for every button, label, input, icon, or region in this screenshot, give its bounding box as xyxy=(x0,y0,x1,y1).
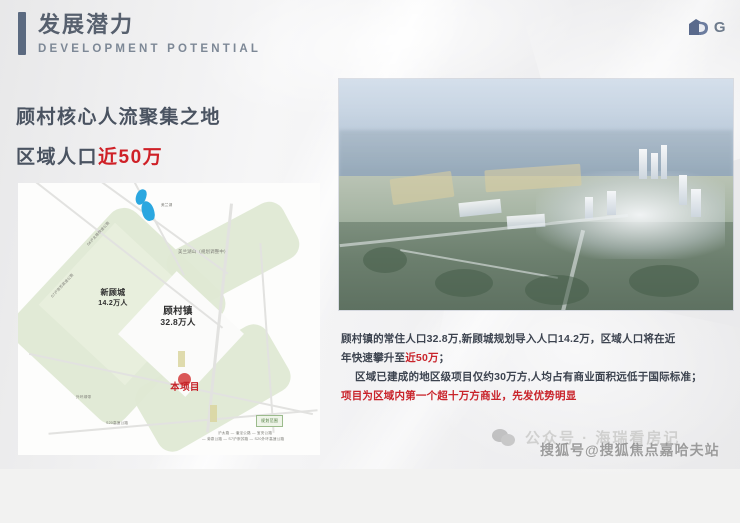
body-line-2-highlight: 近50万 xyxy=(405,352,438,364)
headline-secondary: 区域人口近50万 xyxy=(16,144,346,172)
map-block-marker-b xyxy=(210,405,217,422)
map-label-town: 顾村镇 32.8万人 xyxy=(140,307,216,328)
body-line-2: 年快速攀升至近50万； xyxy=(341,349,733,368)
slide-canvas: 发展潜力 DEVELOPMENT POTENTIAL G 顾村核心人流聚集之地 … xyxy=(0,0,740,469)
body-text-block: 顾村镇的常住人口32.8万,新顾城规划导入人口14.2万，区域人口将在近 年快速… xyxy=(341,330,733,406)
body-line-1: 顾村镇的常住人口32.8万,新顾城规划导入人口14.2万，区域人口将在近 xyxy=(341,330,733,349)
map-canvas: 美兰湖 美兰湖山（规划调整中） S6沪太路快速公路 S7沪崇苏高速公路 S20高… xyxy=(18,183,320,455)
map-label-greenbelt: 外环绿带 xyxy=(76,395,91,400)
left-column: 顾村核心人流聚集之地 区域人口近50万 xyxy=(16,104,346,172)
logo-letter: G xyxy=(714,19,726,36)
map-footnote-1: 沪太路 — 潘泾公路 — 宝安公路 xyxy=(218,431,272,436)
body-line-4: 项目为区域内第一个超十万方商业，先发优势明显 xyxy=(341,387,733,406)
map-label-park: 美兰湖山（规划调整中） xyxy=(178,249,229,254)
map-label-road-bottom: S20高速公路 xyxy=(106,421,128,426)
map-legend: 规划范围 xyxy=(256,415,283,427)
map-label-new-city: 新顾城 14.2万人 xyxy=(78,288,148,309)
headline-primary: 顾村核心人流聚集之地 xyxy=(16,104,346,132)
map-label-new-city-name: 新顾城 xyxy=(101,288,126,297)
slide-header: 发展潜力 DEVELOPMENT POTENTIAL xyxy=(18,12,261,58)
body-line-2-post: ； xyxy=(439,352,450,364)
body-line-2-pre: 年快速攀升至 xyxy=(341,352,405,364)
map-label-town-pop: 32.8万人 xyxy=(160,317,195,327)
region-map-image: 美兰湖 美兰湖山（规划调整中） S6沪太路快速公路 S7沪崇苏高速公路 S20高… xyxy=(18,183,320,455)
map-footnote-2: — 菊泉公路 — S7沪崇苏路 — S20外环高速公路 xyxy=(202,437,284,442)
map-label-lake: 美兰湖 xyxy=(161,203,172,208)
body-line-3: 区域已建成的地区级项目仅约30万方,人均占有商业面积远低于国际标准； xyxy=(341,368,733,387)
header-accent-bar xyxy=(18,12,26,55)
sohu-watermark: 搜狐号@搜狐焦点嘉哈夫站 xyxy=(540,440,720,460)
aerial-photo xyxy=(339,79,733,310)
photo-haze-overlay xyxy=(339,79,733,310)
wechat-icon xyxy=(492,428,518,448)
map-label-project: 本项目 xyxy=(154,383,216,393)
building-logo-icon xyxy=(688,18,710,37)
headline-secondary-prefix: 区域人口 xyxy=(16,147,98,168)
page-subtitle: DEVELOPMENT POTENTIAL xyxy=(38,40,261,58)
map-label-new-city-pop: 14.2万人 xyxy=(98,300,127,307)
map-block-marker-a xyxy=(178,351,185,367)
headline-secondary-highlight: 近50万 xyxy=(98,147,163,168)
wechat-bubble-small xyxy=(501,434,515,446)
map-label-town-name: 顾村镇 xyxy=(163,306,192,317)
page-title: 发展潜力 xyxy=(38,12,261,38)
brand-logo: G xyxy=(688,18,726,37)
